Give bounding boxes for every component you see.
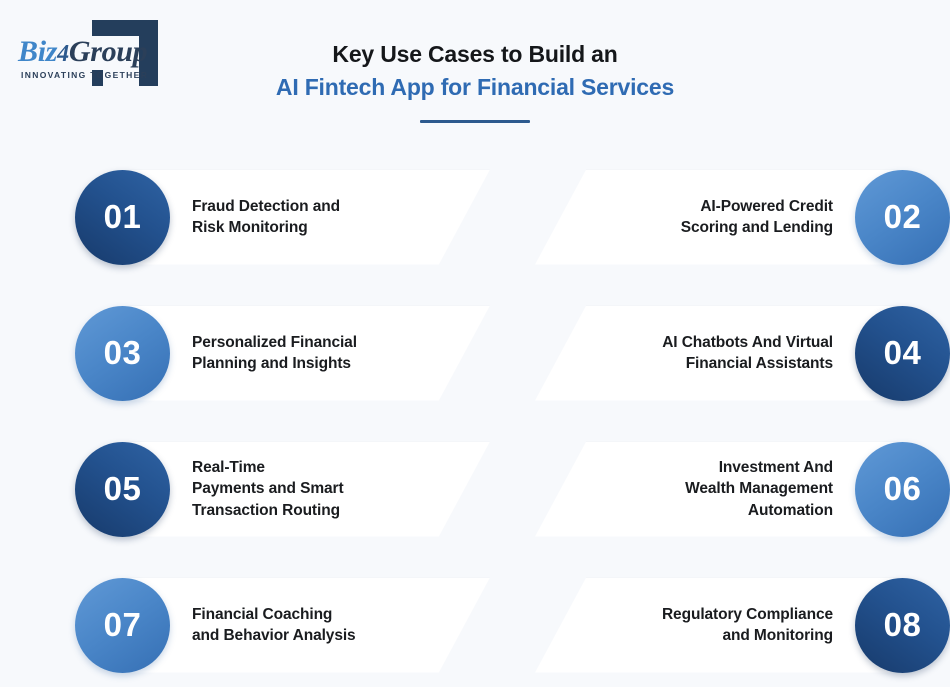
use-case-card-label-line: and Behavior Analysis [192, 625, 356, 646]
use-case-card-label-line: Financial Coaching [192, 604, 332, 625]
use-case-card-label-line: Payments and Smart [192, 478, 344, 499]
use-case-card-label-line: Scoring and Lending [681, 217, 833, 238]
use-case-number-badge: 02 [855, 170, 950, 265]
logo-tagline: INNOVATING TOGETHER [21, 70, 148, 80]
use-case-number-badge: 01 [75, 170, 170, 265]
use-case-row: 01Fraud Detection andRisk Monitoring02AI… [0, 149, 950, 285]
use-case-card-label-line: Risk Monitoring [192, 217, 308, 238]
title-underline-rule [420, 120, 530, 123]
use-case-card-08[interactable]: 08Regulatory Complianceand Monitoring [535, 578, 950, 673]
use-case-card-06[interactable]: 06Investment AndWealth ManagementAutomat… [535, 442, 950, 537]
use-case-number-badge: 03 [75, 306, 170, 401]
use-case-card-label: Financial Coachingand Behavior Analysis [192, 578, 412, 673]
use-case-number-badge: 05 [75, 442, 170, 537]
use-case-card-label-line: Regulatory Compliance [662, 604, 833, 625]
use-case-row: 03Personalized FinancialPlanning and Ins… [0, 285, 950, 421]
use-case-card-label: Fraud Detection andRisk Monitoring [192, 170, 412, 265]
use-case-card-label-line: Planning and Insights [192, 353, 351, 374]
use-case-card-label: AI-Powered CreditScoring and Lending [613, 170, 833, 265]
logo-text-four: 4 [57, 41, 69, 67]
use-case-card-label-line: Transaction Routing [192, 500, 340, 521]
use-case-number-badge: 08 [855, 578, 950, 673]
use-case-card-label-line: and Monitoring [722, 625, 833, 646]
logo-wordmark: Biz4Group [18, 35, 147, 69]
use-case-card-label-line: Automation [748, 500, 833, 521]
use-case-card-label: Investment AndWealth ManagementAutomatio… [613, 442, 833, 537]
use-case-card-04[interactable]: 04AI Chatbots And VirtualFinancial Assis… [535, 306, 950, 401]
use-case-card-05[interactable]: 05Real-TimePayments and SmartTransaction… [75, 442, 490, 537]
use-case-card-label-line: Real-Time [192, 457, 265, 478]
use-case-card-07[interactable]: 07Financial Coachingand Behavior Analysi… [75, 578, 490, 673]
use-case-card-03[interactable]: 03Personalized FinancialPlanning and Ins… [75, 306, 490, 401]
use-case-card-label-line: Investment And [719, 457, 833, 478]
use-case-card-label-line: Personalized Financial [192, 332, 357, 353]
use-case-row: 05Real-TimePayments and SmartTransaction… [0, 421, 950, 557]
use-case-card-02[interactable]: 02AI-Powered CreditScoring and Lending [535, 170, 950, 265]
logo-text-group: Group [69, 35, 148, 68]
use-case-card-01[interactable]: 01Fraud Detection andRisk Monitoring [75, 170, 490, 265]
use-case-card-label-line: Wealth Management [685, 478, 833, 499]
use-case-row: 07Financial Coachingand Behavior Analysi… [0, 557, 950, 687]
use-case-card-label: AI Chatbots And VirtualFinancial Assista… [613, 306, 833, 401]
use-case-number-badge: 06 [855, 442, 950, 537]
page-header: Biz4Group INNOVATING TOGETHER Key Use Ca… [0, 0, 950, 135]
use-case-card-label: Personalized FinancialPlanning and Insig… [192, 306, 412, 401]
use-case-card-label-line: AI-Powered Credit [700, 196, 833, 217]
use-case-card-label: Real-TimePayments and SmartTransaction R… [192, 442, 412, 537]
use-case-number-badge: 04 [855, 306, 950, 401]
logo-text-biz: Biz [18, 35, 57, 68]
use-case-card-label-line: Financial Assistants [686, 353, 833, 374]
use-case-card-label-line: Fraud Detection and [192, 196, 340, 217]
use-case-card-label: Regulatory Complianceand Monitoring [613, 578, 833, 673]
use-case-card-label-line: AI Chatbots And Virtual [662, 332, 833, 353]
use-case-number-badge: 07 [75, 578, 170, 673]
use-case-grid: 01Fraud Detection andRisk Monitoring02AI… [0, 135, 950, 687]
